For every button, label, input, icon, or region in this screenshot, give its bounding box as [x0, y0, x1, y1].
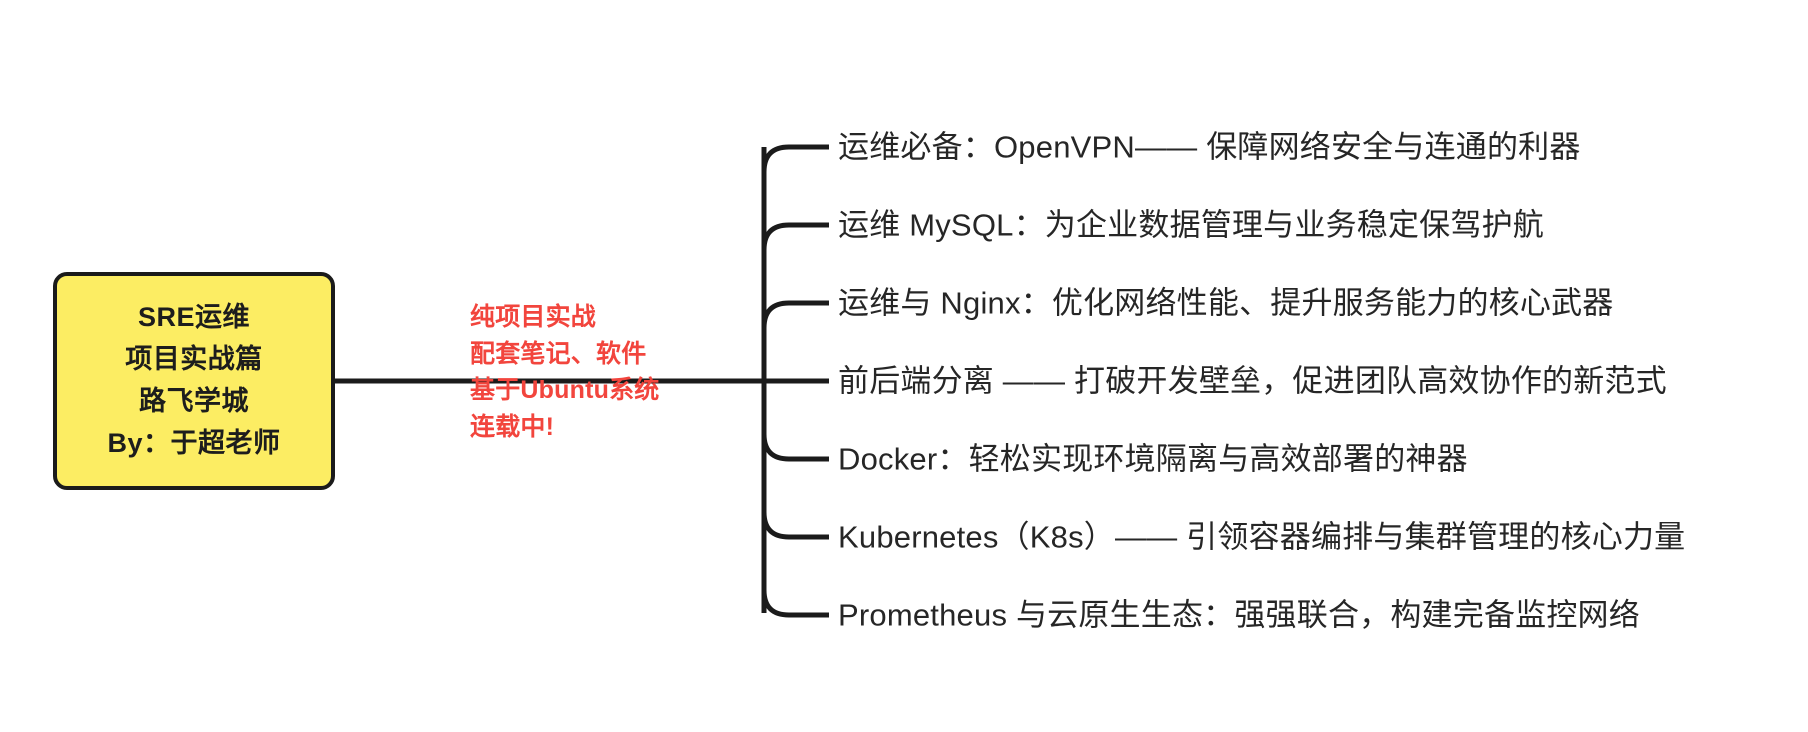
root-node[interactable]: SRE运维 项目实战篇 路飞学城 By：于超老师 — [53, 272, 335, 490]
root-line-3: 路飞学城 — [139, 381, 249, 423]
branch-node-7[interactable]: Prometheus 与云原生生态：强强联合，构建完备监控网络 — [838, 600, 1640, 631]
root-line-2: 项目实战篇 — [125, 339, 263, 381]
promo-line-4: 连载中! — [470, 409, 659, 446]
promo-line-1: 纯项目实战 — [470, 299, 659, 336]
branch-edge-5 — [764, 434, 829, 459]
promo-annotation: 纯项目实战 配套笔记、软件 基于Ubuntu系统 连载中! — [470, 299, 659, 445]
branch-node-3[interactable]: 运维与 Nginx：优化网络性能、提升服务能力的核心武器 — [838, 288, 1613, 319]
root-line-1: SRE运维 — [138, 297, 250, 339]
root-line-4: By：于超老师 — [107, 423, 280, 465]
branch-edge-1 — [764, 147, 829, 172]
mindmap-canvas: SRE运维 项目实战篇 路飞学城 By：于超老师 纯项目实战 配套笔记、软件 基… — [0, 0, 1808, 732]
branch-node-2[interactable]: 运维 MySQL：为企业数据管理与业务稳定保驾护航 — [838, 210, 1544, 241]
branch-node-6[interactable]: Kubernetes（K8s）—— 引领容器编排与集群管理的核心力量 — [838, 522, 1685, 553]
branch-node-5[interactable]: Docker：轻松实现环境隔离与高效部署的神器 — [838, 444, 1468, 475]
branch-node-4[interactable]: 前后端分离 —— 打破开发壁垒，促进团队高效协作的新范式 — [838, 366, 1667, 397]
branch-edge-2 — [764, 225, 829, 250]
promo-line-2: 配套笔记、软件 — [470, 336, 659, 373]
branch-edge-6 — [764, 512, 829, 537]
branch-edge-3 — [764, 303, 829, 328]
branch-node-1[interactable]: 运维必备：OpenVPN—— 保障网络安全与连通的利器 — [838, 132, 1581, 163]
promo-line-3: 基于Ubuntu系统 — [470, 372, 659, 409]
branch-edge-7 — [764, 590, 829, 615]
